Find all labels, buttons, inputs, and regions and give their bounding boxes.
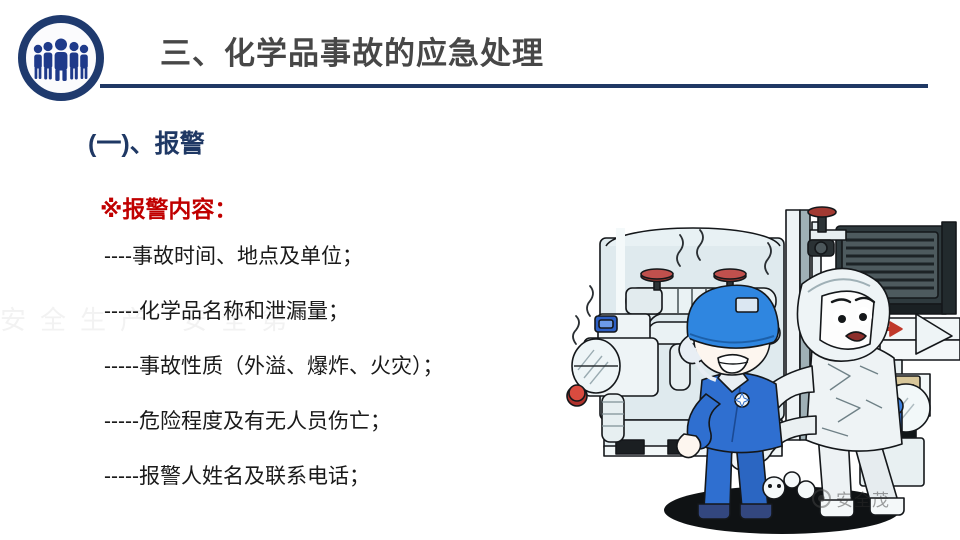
title-divider [100,84,928,88]
corner-watermark-text: 安全茂 [836,486,890,511]
list-item: -----危险程度及有无人员伤亡； [104,411,574,442]
content-label: ※报警内容： [100,190,237,224]
list-item: -----报警人姓名及联系电话； [104,466,574,497]
list-item: ----事故时间、地点及单位； [104,246,574,277]
circle-badge-icon [812,489,831,508]
list-item: -----化学品名称和泄漏量； [104,301,574,332]
page-title: 三、化学品事故的应急处理 [160,28,544,73]
slide-canvas: 安全生产 安全第一 [0,0,960,540]
section-heading: (一)、报警 [88,124,205,160]
bullet-list: ----事故时间、地点及单位； -----化学品名称和泄漏量； -----事故性… [104,246,574,497]
brand-logo [18,15,104,101]
group-of-people-icon [32,37,90,81]
corner-watermark: 安全茂 [812,483,952,513]
list-item: -----事故性质（外溢、爆炸、火灾）； [104,356,574,387]
